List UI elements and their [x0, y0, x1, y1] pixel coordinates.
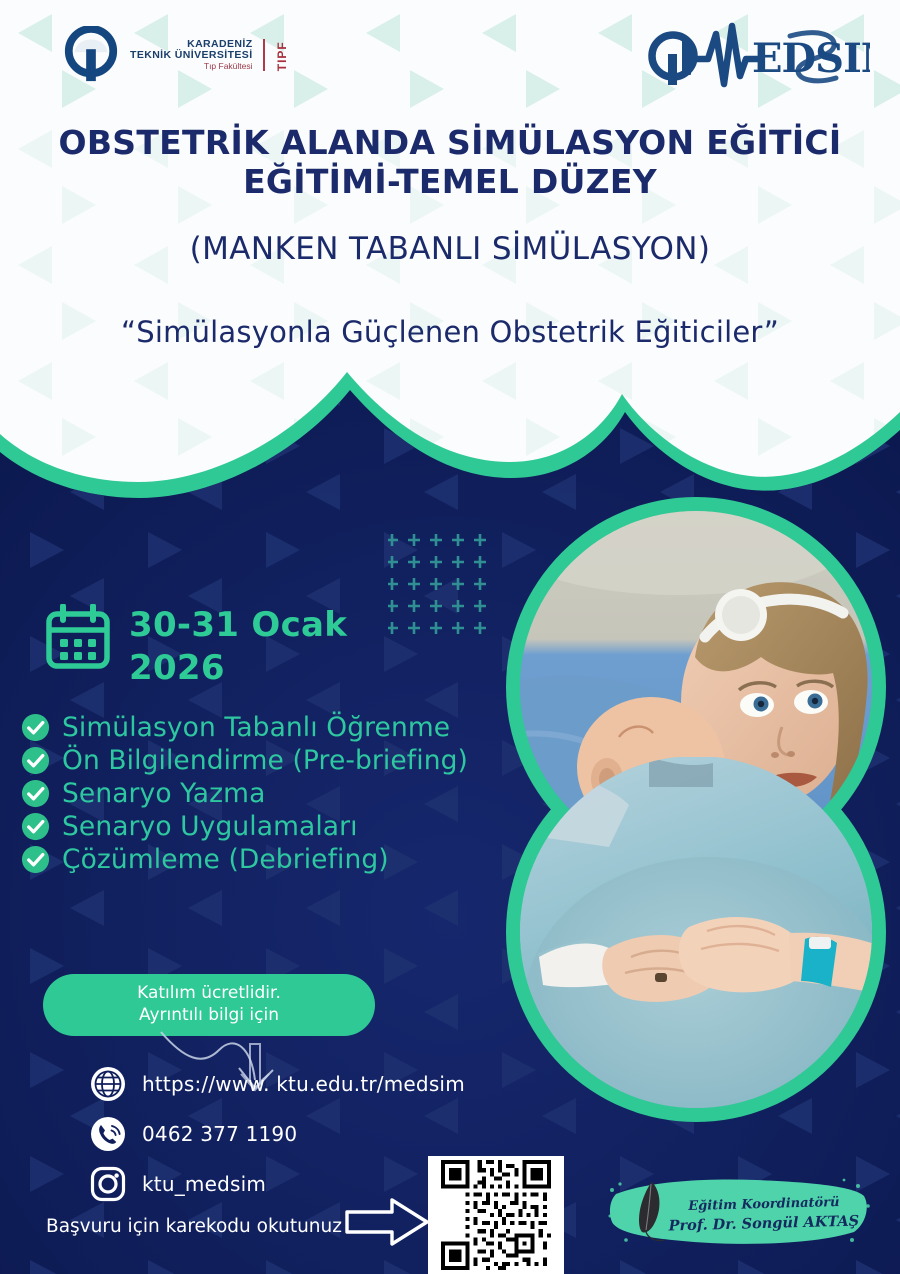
ktu-name-block: KARADENİZ TEKNİK ÜNİVERSİTESİ Tıp Fakült… — [130, 39, 253, 71]
list-item: Senaryo Yazma — [20, 778, 520, 809]
plus-grid-pattern — [388, 532, 488, 636]
list-item: Senaryo Uygulamaları — [20, 811, 520, 842]
cta-line2: Ayrıntılı bilgi için — [139, 1005, 279, 1027]
ktu-red-divider — [263, 39, 265, 71]
calendar-icon — [45, 604, 111, 670]
check-circle-icon — [20, 745, 51, 776]
check-circle-icon — [20, 778, 51, 809]
website-text: https://www. ktu.edu.tr/medsim — [142, 1072, 465, 1096]
poster-root: KARADENİZ TEKNİK ÜNİVERSİTESİ Tıp Fakült… — [0, 0, 900, 1274]
list-item: Çözümleme (Debriefing) — [20, 844, 520, 875]
ktu-line3: Tıp Fakültesi — [204, 62, 253, 71]
quote-title: “Simülasyonla Güçlenen Obstetrik Eğitici… — [0, 315, 900, 349]
check-circle-icon — [20, 712, 51, 743]
photo-circle-illustration — [499, 487, 894, 1132]
globe-icon — [90, 1066, 126, 1102]
title-block: OBSTETRİK ALANDA SİMÜLASYON EĞİTİCİ EĞİT… — [0, 124, 900, 349]
event-date: 30-31 Ocak 2026 — [45, 604, 347, 690]
ktu-logo-text: KARADENİZ TEKNİK ÜNİVERSİTESİ Tıp Fakült… — [130, 39, 289, 71]
medsim-logo: EDSIM — [640, 18, 870, 98]
list-item: Simülasyon Tabanlı Öğrenme — [20, 712, 520, 743]
check-circle-icon — [20, 811, 51, 842]
topics-list: Simülasyon Tabanlı Öğrenme Ön Bilgilendi… — [20, 712, 520, 877]
topic-label: Senaryo Yazma — [62, 778, 265, 809]
topic-label: Çözümleme (Debriefing) — [62, 844, 389, 875]
date-text: 30-31 Ocak 2026 — [129, 604, 347, 690]
poster-header: KARADENİZ TEKNİK ÜNİVERSİTESİ Tıp Fakült… — [0, 0, 900, 120]
apply-instruction: Başvuru için karekodu okutunuz — [46, 1216, 342, 1237]
sub-title: (MANKEN TABANLI SİMÜLASYON) — [0, 231, 900, 267]
contact-website[interactable]: https://www. ktu.edu.tr/medsim — [90, 1066, 465, 1102]
cta-line1: Katılım ücretlidir. — [137, 983, 281, 1005]
date-line2: 2026 — [129, 647, 347, 690]
coordinator-signature-badge: Eğitim Koordinatörü Prof. Dr. Songül AKT… — [606, 1172, 874, 1248]
topic-label: Ön Bilgilendirme (Pre-briefing) — [62, 745, 468, 776]
topic-label: Simülasyon Tabanlı Öğrenme — [62, 712, 450, 743]
list-item: Ön Bilgilendirme (Pre-briefing) — [20, 745, 520, 776]
main-title-line1: OBSTETRİK ALANDA SİMÜLASYON EĞİTİCİ — [40, 124, 860, 163]
phone-icon — [90, 1116, 126, 1152]
check-circle-icon — [20, 844, 51, 875]
instagram-icon — [90, 1166, 126, 1202]
instagram-text: ktu_medsim — [142, 1172, 266, 1196]
topic-label: Senaryo Uygulamaları — [62, 811, 358, 842]
date-line1: 30-31 Ocak — [129, 604, 347, 647]
right-arrow-icon — [344, 1196, 430, 1248]
contact-list: https://www. ktu.edu.tr/medsim 0462 377 … — [90, 1066, 465, 1216]
page-title: OBSTETRİK ALANDA SİMÜLASYON EĞİTİCİ EĞİT… — [0, 124, 900, 201]
ktu-line2: TEKNİK ÜNİVERSİTESİ — [130, 50, 253, 61]
contact-phone[interactable]: 0462 377 1190 — [90, 1116, 465, 1152]
ktu-logo: KARADENİZ TEKNİK ÜNİVERSİTESİ Tıp Fakült… — [62, 26, 289, 84]
ktu-tipf-label: TIPF — [275, 39, 289, 71]
qr-code[interactable] — [428, 1156, 564, 1274]
phone-text: 0462 377 1190 — [142, 1122, 297, 1146]
main-title-line2: EĞİTİMİ-TEMEL DÜZEY — [40, 163, 860, 202]
ktu-emblem-icon — [62, 26, 120, 84]
